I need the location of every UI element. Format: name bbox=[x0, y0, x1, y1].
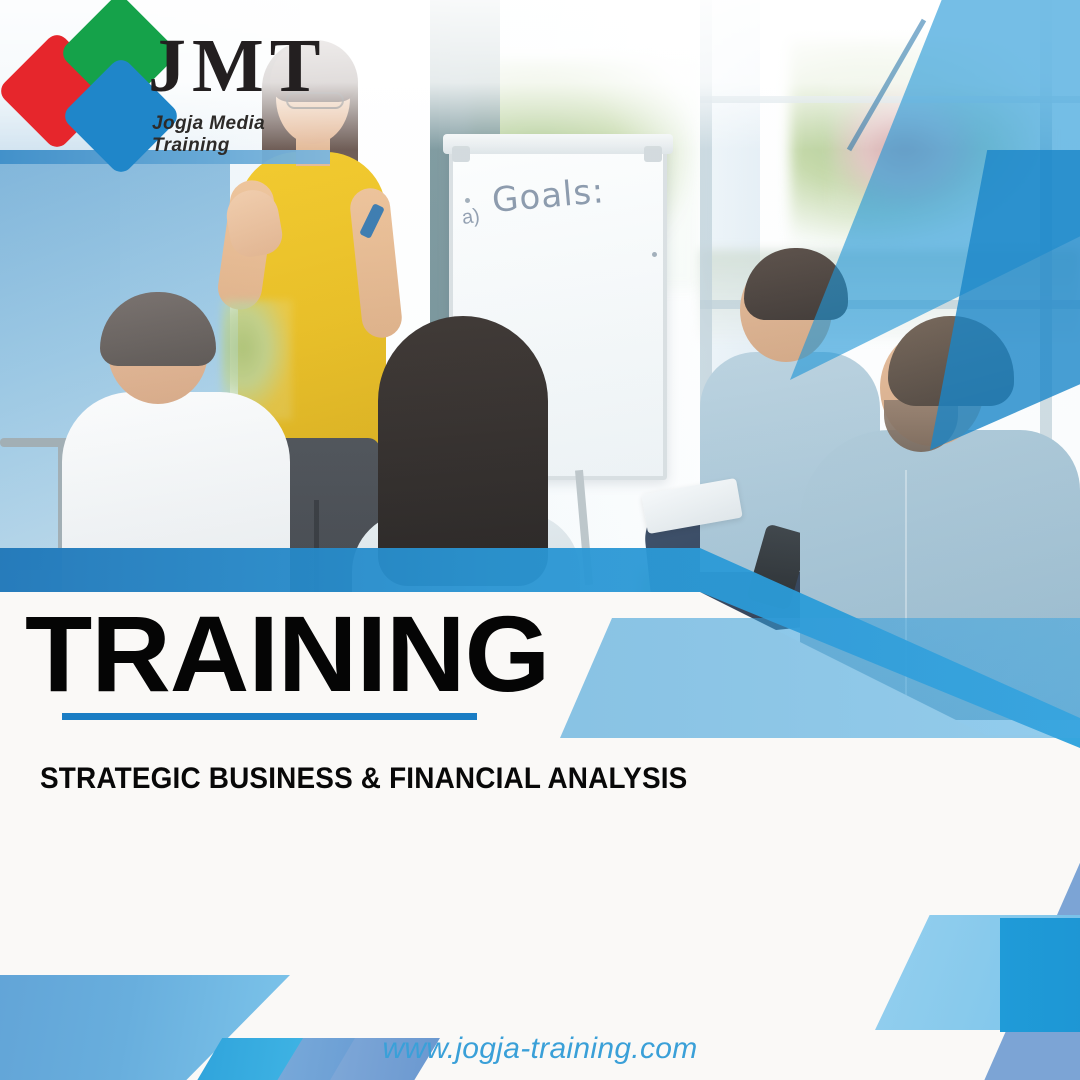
attendee-center-long-hair bbox=[378, 316, 548, 586]
page-title: TRAINING bbox=[25, 600, 549, 708]
website-url[interactable]: www.jogja-training.com bbox=[0, 1032, 1080, 1066]
page-subtitle: STRATEGIC BUSINESS & FINANCIAL ANALYSIS bbox=[40, 762, 687, 796]
promo-poster: Goals: a) bbox=[0, 0, 1080, 1080]
brand-logo[interactable]: JMT Jogja Media Training bbox=[8, 18, 338, 146]
logo-tagline: Jogja Media Training bbox=[152, 113, 338, 157]
flipchart-dot bbox=[652, 252, 657, 257]
diagonal-blue-band-soft bbox=[560, 618, 1080, 738]
title-underline-rule bbox=[62, 713, 477, 720]
bottom-right-blue-band bbox=[1000, 918, 1080, 1032]
logo-initials: JMT bbox=[148, 28, 326, 104]
flipchart-bullet-text: a) bbox=[460, 205, 481, 230]
flipchart-dot bbox=[465, 198, 470, 203]
